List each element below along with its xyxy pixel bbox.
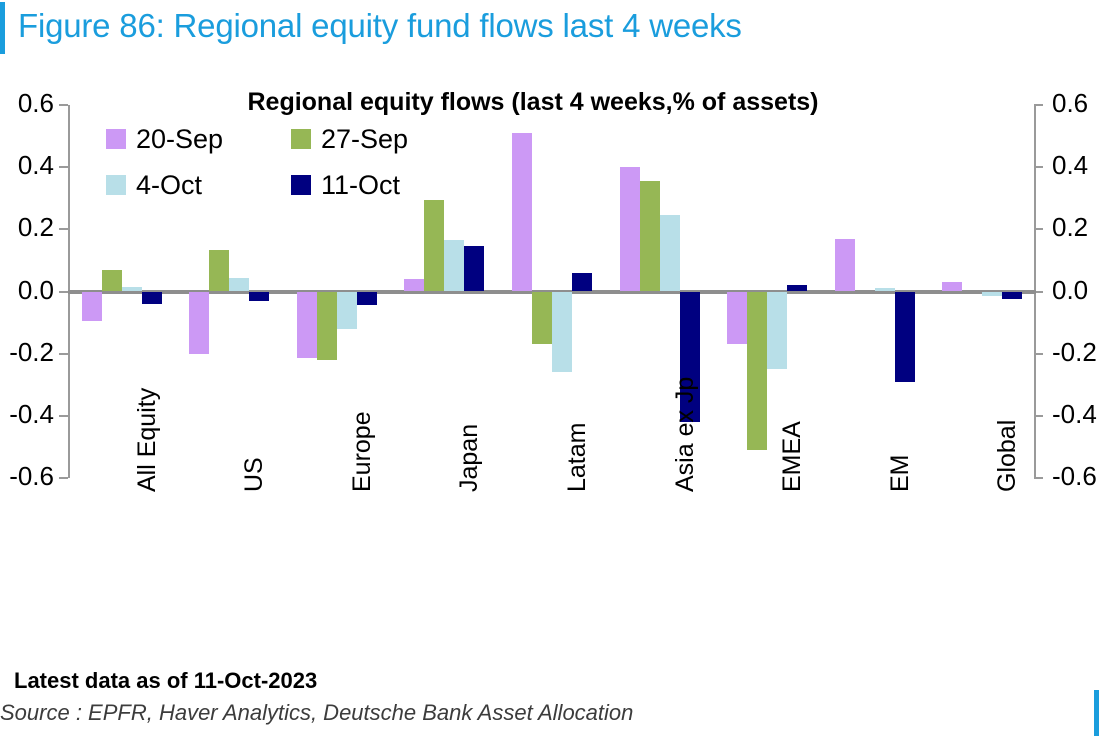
y-axis-label-right: -0.4: [1052, 399, 1104, 430]
bar-27-sep-japan: [424, 200, 444, 292]
y-axis-label-right: 0.2: [1052, 212, 1104, 243]
bar-20-sep-asia-ex-jp: [620, 167, 640, 291]
chart-area: Regional equity flows (last 4 weeks,% of…: [0, 62, 1104, 662]
legend-label: 11-Oct: [321, 170, 400, 201]
y-tick-left: [59, 291, 68, 293]
bar-11-oct-global: [1002, 292, 1022, 300]
bar-4-oct-us: [229, 278, 249, 292]
y-axis-label-right: 0.0: [1052, 275, 1104, 306]
legend-swatch-icon: [106, 129, 126, 149]
category-label-us: US: [240, 457, 269, 492]
bar-4-oct-europe: [337, 292, 357, 329]
y-axis-label-left: 0.6: [0, 88, 54, 119]
y-tick-left: [59, 166, 68, 168]
legend-item-11-oct[interactable]: 11-Oct: [291, 168, 400, 202]
bar-group: [821, 105, 929, 478]
bar-20-sep-us: [189, 292, 209, 354]
bar-27-sep-latam: [532, 292, 552, 345]
y-axis-label-left: 0.0: [0, 275, 54, 306]
y-tick-left: [59, 353, 68, 355]
bar-11-oct-us: [249, 292, 269, 301]
bar-4-oct-em: [875, 288, 895, 291]
y-tick-left: [59, 104, 68, 106]
legend-label: 27-Sep: [321, 124, 408, 155]
bar-11-oct-japan: [464, 246, 484, 291]
bar-27-sep-all-equity: [102, 270, 122, 292]
bar-11-oct-em: [895, 292, 915, 382]
bar-27-sep-emea: [747, 292, 767, 451]
bar-20-sep-em: [835, 239, 855, 292]
y-tick-left: [59, 228, 68, 230]
bar-4-oct-latam: [552, 292, 572, 373]
y-axis-label-left: -0.4: [0, 399, 54, 430]
bar-27-sep-us: [209, 250, 229, 292]
figure-accent-bar: [0, 2, 5, 54]
legend-label: 4-Oct: [136, 170, 202, 201]
y-axis-label-left: 0.4: [0, 150, 54, 181]
legend-item-20-sep[interactable]: 20-Sep: [106, 122, 223, 156]
category-label-all-equity: All Equity: [133, 388, 162, 492]
legend-swatch-icon: [291, 175, 311, 195]
category-label-japan: Japan: [455, 424, 484, 492]
y-tick-left: [59, 477, 68, 479]
category-label-europe: Europe: [348, 411, 377, 492]
bar-20-sep-emea: [727, 292, 747, 345]
category-label-asia-ex-jp: Asia ex Jp: [671, 377, 700, 492]
bar-4-oct-global: [982, 292, 1002, 297]
bar-11-oct-all-equity: [142, 292, 162, 304]
legend-swatch-icon: [106, 175, 126, 195]
y-tick-left: [59, 415, 68, 417]
chart-legend: 20-Sep27-Sep4-Oct11-Oct: [106, 122, 466, 208]
source-text: Source : EPFR, Haver Analytics, Deutsche…: [0, 700, 633, 726]
y-axis-label-left: 0.2: [0, 212, 54, 243]
y-axis-label-right: 0.6: [1052, 88, 1104, 119]
bar-11-oct-emea: [787, 285, 807, 291]
source-accent-bar: [1094, 690, 1099, 736]
legend-item-27-sep[interactable]: 27-Sep: [291, 122, 408, 156]
category-label-emea: EMEA: [778, 421, 807, 492]
y-axis-label-left: -0.6: [0, 461, 54, 492]
bar-20-sep-latam: [512, 133, 532, 292]
bar-27-sep-europe: [317, 292, 337, 360]
legend-swatch-icon: [291, 129, 311, 149]
footnote-text: Latest data as of 11-Oct-2023: [14, 668, 317, 694]
bar-11-oct-latam: [572, 273, 592, 292]
figure-header: Figure 86: Regional equity fund flows la…: [0, 0, 1104, 62]
bar-20-sep-japan: [404, 279, 424, 291]
bar-20-sep-all-equity: [82, 292, 102, 322]
y-axis-label-right: -0.6: [1052, 461, 1104, 492]
bar-20-sep-europe: [297, 292, 317, 359]
legend-label: 20-Sep: [136, 124, 223, 155]
bar-4-oct-all-equity: [122, 287, 142, 292]
y-axis-label-right: -0.2: [1052, 337, 1104, 368]
bar-20-sep-global: [942, 282, 962, 291]
figure-title: Figure 86: Regional equity fund flows la…: [18, 2, 742, 50]
legend-item-4-oct[interactable]: 4-Oct: [106, 168, 202, 202]
bar-4-oct-asia-ex-jp: [660, 215, 680, 291]
category-label-global: Global: [993, 420, 1022, 492]
category-label-latam: Latam: [563, 423, 592, 492]
category-label-em: EM: [886, 455, 915, 493]
bar-4-oct-emea: [767, 292, 787, 370]
y-axis-label-right: 0.4: [1052, 150, 1104, 181]
y-axis-label-left: -0.2: [0, 337, 54, 368]
bar-11-oct-europe: [357, 292, 377, 306]
bar-27-sep-asia-ex-jp: [640, 181, 660, 291]
bar-4-oct-japan: [444, 240, 464, 291]
